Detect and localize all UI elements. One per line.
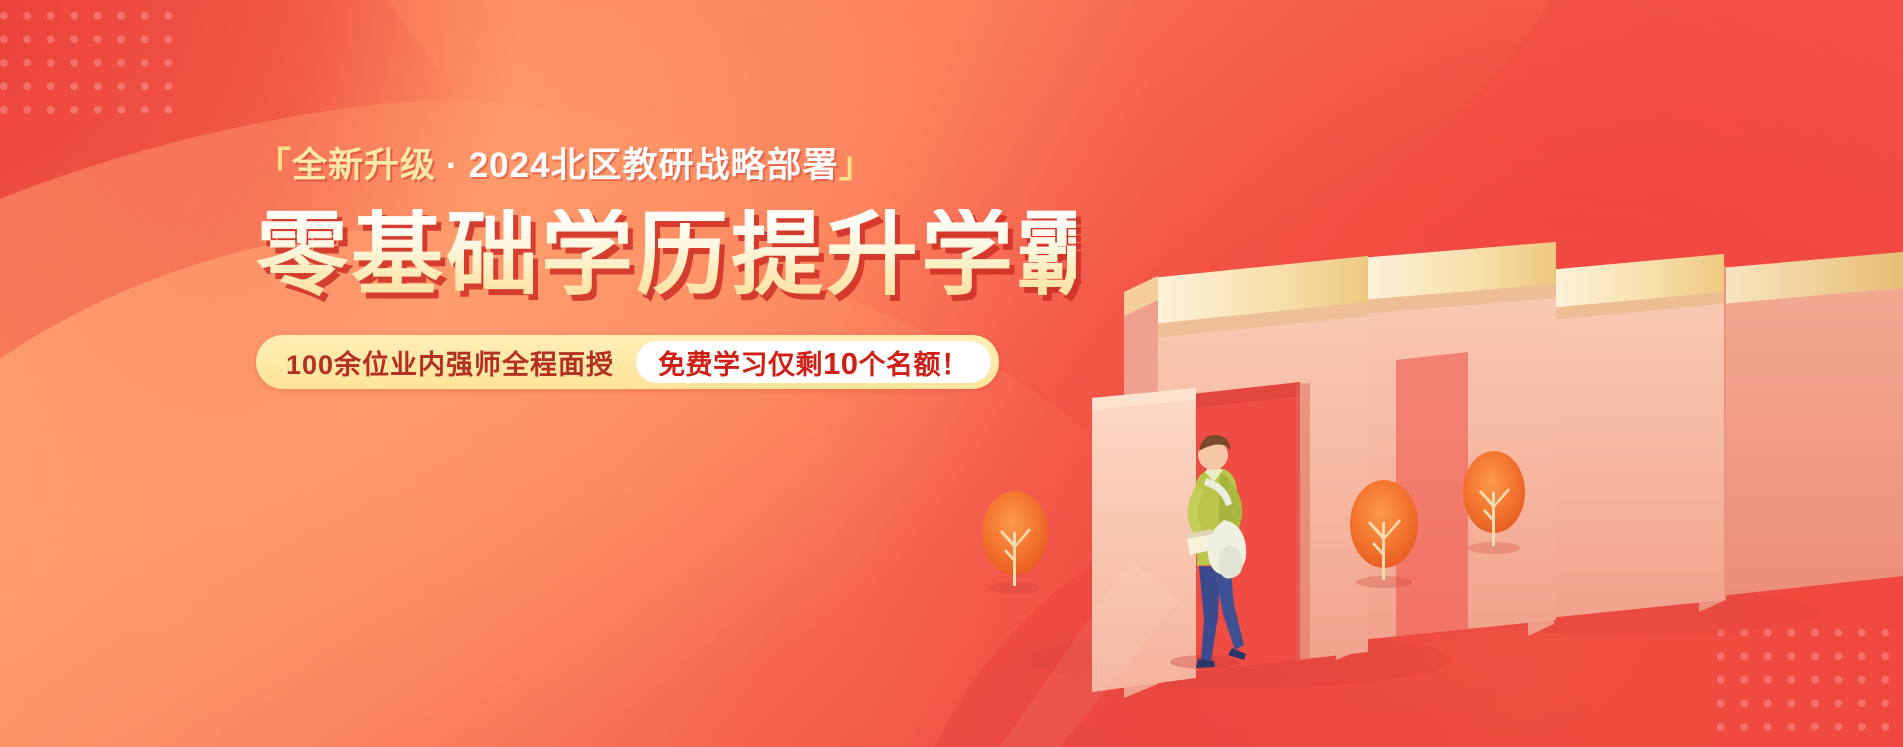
badge-left-text: 100余位业内强师全程面授 — [286, 343, 636, 382]
dot-grid-bottom-right — [1709, 621, 1903, 745]
badge-seats-number: 10 — [823, 346, 858, 381]
bracket-close-icon: 」 — [839, 146, 875, 185]
eyebrow-separator-icon: · — [436, 146, 469, 185]
banner-eyebrow: 「全新升级·2024北区教研战略部署」 — [256, 148, 1076, 183]
eyebrow-white-text: 2024北区教研战略部署 — [469, 146, 839, 185]
banner-headline: 零基础学历提升学霸班 — [256, 209, 1076, 301]
badge-right-prefix: 免费学习仅剩 — [658, 350, 823, 380]
banner-copy: 「全新升级·2024北区教研战略部署」 零基础学历提升学霸班 100余位业内强师… — [256, 148, 1076, 389]
banner-badge[interactable]: 100余位业内强师全程面授 免费学习仅剩10个名额！ — [256, 335, 999, 389]
badge-right-text: 免费学习仅剩10个名额！ — [658, 343, 968, 382]
dot-grid-top-left — [0, 4, 180, 126]
eyebrow-gold-text: 全新升级 — [292, 146, 436, 185]
promo-banner: 「全新升级·2024北区教研战略部署」 零基础学历提升学霸班 100余位业内强师… — [0, 0, 1903, 747]
bracket-open-icon: 「 — [256, 146, 292, 185]
badge-right-suffix: 个名额！ — [859, 350, 969, 380]
badge-inner-pill: 免费学习仅剩10个名额！ — [636, 341, 990, 383]
